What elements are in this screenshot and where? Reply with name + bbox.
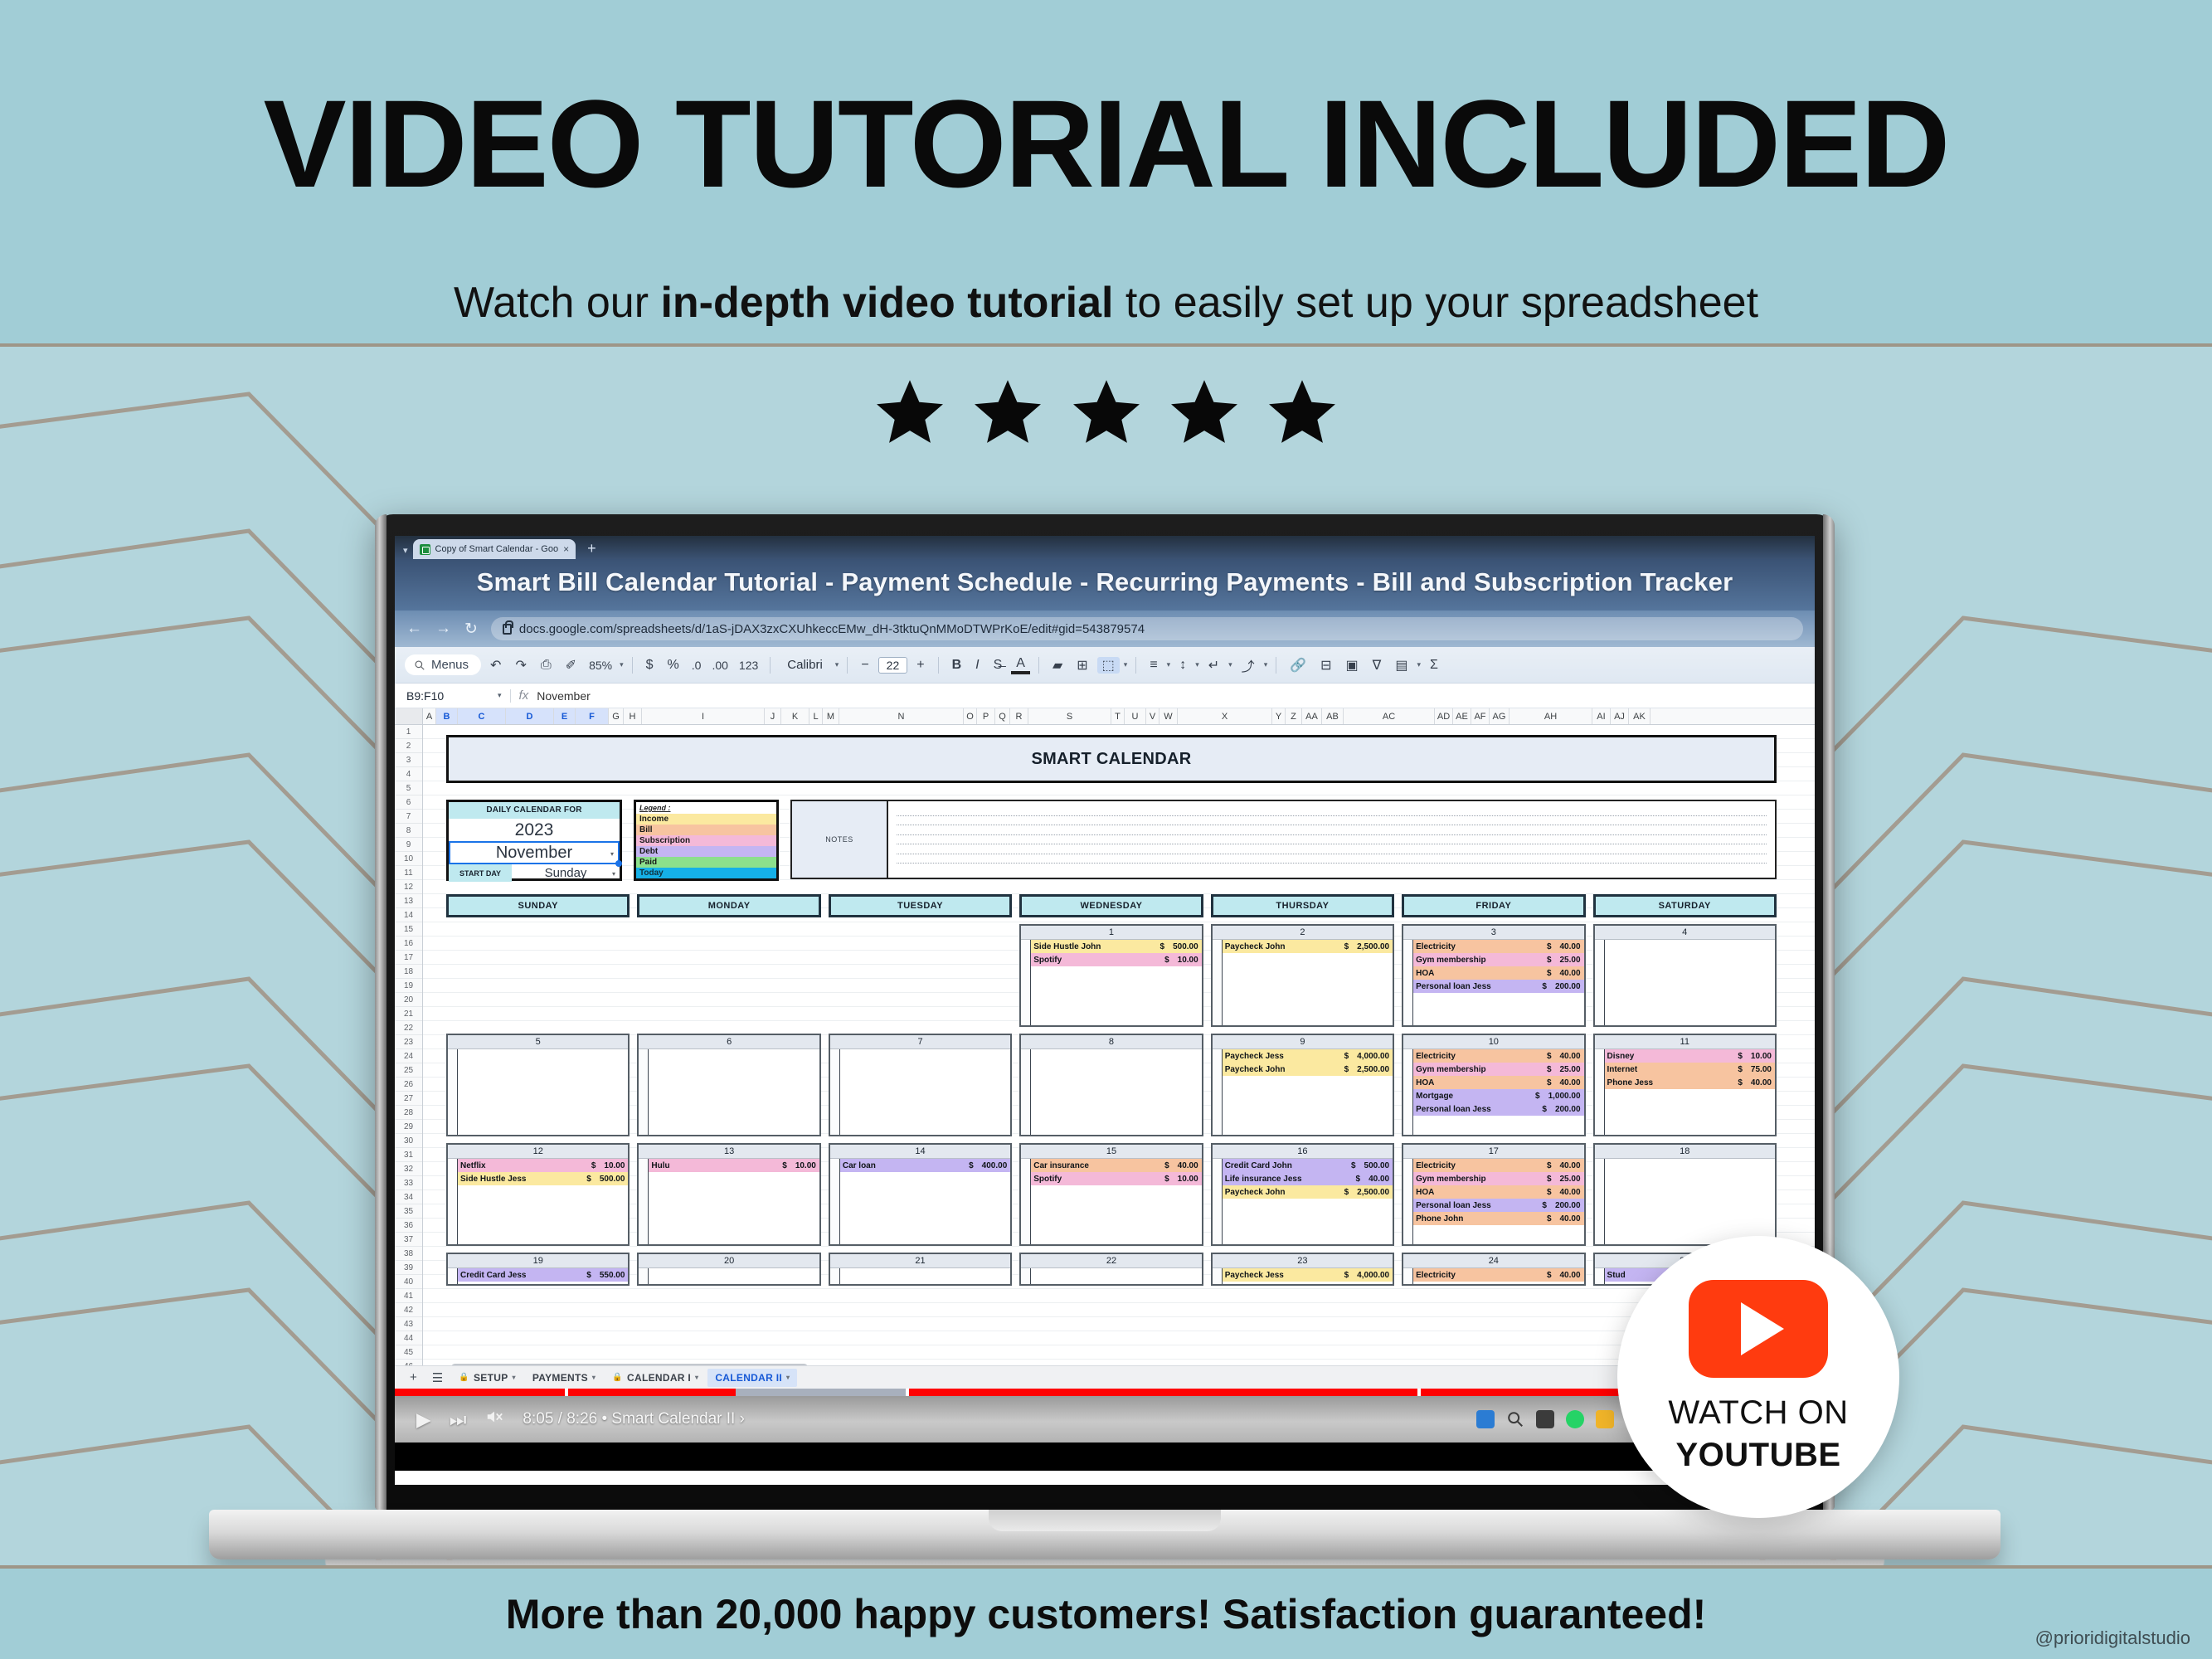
chevron-down-icon[interactable]: ▾	[592, 1374, 596, 1381]
day-number: 1	[1021, 926, 1201, 940]
increase-font-size-button[interactable]: +	[912, 658, 929, 673]
row-header-14[interactable]: 14	[395, 908, 422, 922]
day-gutter	[830, 1159, 840, 1244]
column-header-m[interactable]: M	[823, 708, 839, 724]
legend-item-today: Today	[636, 868, 776, 878]
star-icon	[1069, 377, 1144, 454]
zoom-caret-icon[interactable]: ▾	[620, 660, 624, 669]
row-header-3[interactable]: 3	[395, 753, 422, 767]
row-header-33[interactable]: 33	[395, 1176, 422, 1190]
undo-icon[interactable]: ↶	[485, 657, 506, 674]
row-header-38[interactable]: 38	[395, 1247, 422, 1261]
row-header-18[interactable]: 18	[395, 965, 422, 979]
calendar-day-cell[interactable]: 21	[829, 1253, 1012, 1286]
reload-icon[interactable]: ↻	[464, 620, 478, 639]
entry-value: 40.00	[1178, 1160, 1198, 1172]
calendar-entry[interactable]: Side Hustle Jess$500.00	[458, 1172, 628, 1185]
more-formats-icon[interactable]: 123	[736, 659, 761, 672]
all-sheets-icon[interactable]: ☰	[425, 1370, 450, 1385]
column-header-c[interactable]: C	[458, 708, 506, 724]
row-header-6[interactable]: 6	[395, 795, 422, 810]
halign-caret-icon[interactable]: ▾	[1167, 660, 1171, 669]
calendar-entry[interactable]: Gym membership$25.00	[1413, 1172, 1583, 1185]
day-body: Electricity$40.00	[1403, 1268, 1583, 1284]
calendar-entry[interactable]: Mortgage$1,000.00	[1413, 1089, 1583, 1102]
column-header-g[interactable]: G	[609, 708, 624, 724]
calendar-entry[interactable]: HOA$40.00	[1413, 1185, 1583, 1199]
calendar-entry[interactable]: Disney$10.00	[1605, 1049, 1775, 1063]
top-banner: VIDEO TUTORIAL INCLUDED Watch our in-dep…	[0, 0, 2212, 347]
row-header-24[interactable]: 24	[395, 1049, 422, 1063]
entry-currency: $	[1164, 954, 1169, 966]
entry-value: 40.00	[1560, 1269, 1581, 1282]
row-header-25[interactable]: 25	[395, 1063, 422, 1078]
forward-icon[interactable]: →	[435, 620, 451, 638]
column-header-y[interactable]: Y	[1272, 708, 1286, 724]
calendar-entry[interactable]: Gym membership$25.00	[1413, 953, 1583, 966]
whatsapp-icon[interactable]	[1566, 1410, 1584, 1428]
entry-currency: $	[1547, 954, 1552, 966]
currency-format-icon[interactable]: $	[641, 658, 659, 673]
entry-currency: $	[1160, 941, 1165, 953]
entry-name: Car loan	[843, 1160, 876, 1172]
day-gutter	[1403, 1159, 1413, 1244]
filter-caret-icon[interactable]: ▾	[1417, 660, 1422, 669]
day-number: 7	[830, 1035, 1010, 1049]
play-icon[interactable]: ▶	[416, 1408, 431, 1431]
column-header-aj[interactable]: AJ	[1611, 708, 1629, 724]
calendar-day-cell[interactable]: 20	[637, 1253, 820, 1286]
entry-value: 200.00	[1555, 1103, 1581, 1116]
calendar-day-cell[interactable]: 19Credit Card Jess$550.00	[446, 1253, 630, 1286]
redo-icon[interactable]: ↷	[510, 657, 531, 674]
row-header-31[interactable]: 31	[395, 1148, 422, 1162]
entry-name: Paycheck Jess	[1225, 1269, 1284, 1282]
chapter-divider	[565, 1389, 568, 1396]
day-number: 11	[1595, 1035, 1775, 1049]
italic-button[interactable]: I	[970, 658, 984, 673]
year-value[interactable]: 2023	[449, 819, 620, 841]
calendar-day-cell[interactable]: 13Hulu$10.00	[637, 1143, 820, 1246]
column-header-ae[interactable]: AE	[1453, 708, 1471, 724]
weekday-header-row: SUNDAYMONDAYTUESDAYWEDNESDAYTHURSDAYFRID…	[446, 894, 1777, 917]
calendar-entry[interactable]: Side Hustle John$500.00	[1031, 940, 1201, 953]
day-number: 23	[1213, 1254, 1393, 1268]
row-header-46[interactable]: 46	[395, 1360, 422, 1365]
menus-button[interactable]: Menus	[405, 654, 481, 675]
bottom-banner: More than 20,000 happy customers! Satisf…	[0, 1565, 2212, 1659]
star-icon	[970, 377, 1045, 454]
row-header-19[interactable]: 19	[395, 979, 422, 993]
taskview-icon[interactable]	[1536, 1410, 1554, 1428]
column-header-t[interactable]: T	[1111, 708, 1125, 724]
formula-input[interactable]: November	[537, 689, 591, 703]
row-header-30[interactable]: 30	[395, 1134, 422, 1148]
calendar-controls: DAILY CALENDAR FOR 2023 November ▾ START…	[446, 800, 622, 881]
text-wrap-icon[interactable]: ↵	[1203, 657, 1224, 674]
wrap-caret-icon[interactable]: ▾	[1228, 660, 1232, 669]
column-header-k[interactable]: K	[781, 708, 809, 724]
horizontal-scrollbar[interactable]	[451, 1364, 808, 1365]
month-dropdown[interactable]: November ▾	[449, 841, 620, 864]
note-line	[897, 825, 1767, 825]
spreadsheet-grid[interactable]: ABCDEFGHIJKLMNOPQRSTUVWXYZAAABACADAEAFAG…	[395, 708, 1815, 1365]
sheet-tab-calendar-i[interactable]: 🔒CALENDAR I▾	[605, 1369, 706, 1387]
chevron-down-icon[interactable]: ▾	[513, 1374, 516, 1381]
calendar-entry[interactable]: Personal loan Jess$200.00	[1413, 1102, 1583, 1116]
calendar-entry[interactable]: Credit Card Jess$550.00	[458, 1268, 628, 1282]
tab-list-caret-icon[interactable]: ▾	[403, 545, 408, 559]
calendar-entry[interactable]: Paycheck John$2,500.00	[1223, 1185, 1393, 1199]
calendar-day-cell[interactable]: 12Netflix$10.00Side Hustle Jess$500.00	[446, 1143, 630, 1246]
text-rotation-icon[interactable]: ⤴	[1237, 655, 1260, 675]
column-header-b[interactable]: B	[436, 708, 458, 724]
entry-value: 500.00	[1364, 1160, 1390, 1172]
calendar-entry[interactable]: Phone Jess$40.00	[1605, 1076, 1775, 1089]
entry-value: 500.00	[1173, 941, 1198, 953]
row-header-7[interactable]: 7	[395, 810, 422, 824]
column-header-j[interactable]: J	[765, 708, 781, 724]
day-number: 18	[1595, 1145, 1775, 1159]
functions-icon[interactable]: Σ	[1425, 658, 1443, 673]
row-header-36[interactable]: 36	[395, 1219, 422, 1233]
sheet-tab-label: PAYMENTS	[532, 1372, 588, 1384]
insert-comment-icon[interactable]: ⊟	[1315, 657, 1336, 674]
name-box-caret-icon[interactable]: ▾	[498, 691, 502, 700]
sheet-tab-setup[interactable]: 🔒SETUP▾	[451, 1369, 523, 1387]
next-video-icon[interactable]: ⏭	[450, 1408, 467, 1431]
merge-cells-icon[interactable]: ⬚	[1097, 657, 1120, 674]
entry-value: 40.00	[1560, 1077, 1581, 1089]
calendar-day-cell[interactable]: 4	[1593, 924, 1777, 1027]
row-header-13[interactable]: 13	[395, 894, 422, 908]
filter-views-icon[interactable]: ▤	[1390, 657, 1412, 674]
row-header-37[interactable]: 37	[395, 1233, 422, 1247]
entry-value: 75.00	[1751, 1063, 1772, 1076]
back-icon[interactable]: ←	[406, 620, 422, 638]
column-header-i[interactable]: I	[642, 708, 765, 724]
calendar-entry[interactable]: Spotify$10.00	[1031, 1172, 1201, 1185]
sheet-tab-bar: + ☰ 🔒SETUP▾PAYMENTS▾🔒CALENDAR I▾CALENDAR…	[395, 1365, 1815, 1389]
increase-decimal-icon[interactable]: .00	[708, 659, 731, 672]
calendar-entry[interactable]: Internet$75.00	[1605, 1063, 1775, 1076]
legend-items: IncomeBillSubscriptionDebtPaidToday	[636, 814, 776, 878]
row-header-42[interactable]: 42	[395, 1303, 422, 1317]
row-header-26[interactable]: 26	[395, 1078, 422, 1092]
chevron-down-icon[interactable]: ▾	[786, 1374, 790, 1381]
row-header-4[interactable]: 4	[395, 767, 422, 781]
decrease-decimal-icon[interactable]: .0	[688, 659, 705, 672]
row-header-11[interactable]: 11	[395, 866, 422, 880]
row-header-45[interactable]: 45	[395, 1345, 422, 1360]
calendar-day-cell[interactable]: 1Side Hustle John$500.00Spotify$10.00	[1019, 924, 1203, 1027]
entry-value: 40.00	[1369, 1173, 1389, 1185]
calendar-day-cell[interactable]: 23Paycheck Jess$4,000.00	[1211, 1253, 1394, 1286]
merge-caret-icon[interactable]: ▾	[1124, 660, 1128, 669]
day-gutter	[830, 1268, 840, 1284]
column-header-l[interactable]: L	[809, 708, 823, 724]
entry-amount: $40.00	[1547, 1160, 1581, 1172]
calendar-day-cell[interactable]: 16Credit Card John$500.00Life insurance …	[1211, 1143, 1394, 1246]
column-header-z[interactable]: Z	[1286, 708, 1302, 724]
day-gutter	[1021, 1049, 1031, 1135]
row-header-44[interactable]: 44	[395, 1331, 422, 1345]
entry-name: Stud	[1607, 1269, 1626, 1282]
strikethrough-button[interactable]: S̶	[989, 658, 1008, 673]
day-number: 16	[1213, 1145, 1393, 1159]
text-color-button[interactable]: A	[1011, 656, 1030, 674]
column-header-s[interactable]: S	[1028, 708, 1111, 724]
new-tab-button[interactable]: +	[581, 540, 603, 559]
entry-amount: $40.00	[1547, 1269, 1581, 1282]
bold-button[interactable]: B	[947, 658, 967, 673]
entry-value: 10.00	[604, 1160, 625, 1172]
video-letterbox	[395, 1443, 1815, 1471]
row-header-35[interactable]: 35	[395, 1204, 422, 1219]
windows-start-icon[interactable]	[1476, 1410, 1495, 1428]
row-header-40[interactable]: 40	[395, 1275, 422, 1289]
entry-value: 2,500.00	[1357, 1186, 1389, 1199]
row-header-39[interactable]: 39	[395, 1261, 422, 1275]
entry-amount: $40.00	[1547, 1186, 1581, 1199]
row-header-20[interactable]: 20	[395, 993, 422, 1007]
row-header-10[interactable]: 10	[395, 852, 422, 866]
column-header-ac[interactable]: AC	[1344, 708, 1435, 724]
calendar-entry[interactable]: Spotify$10.00	[1031, 953, 1201, 966]
calendar-day-cell[interactable]: 17Electricity$40.00Gym membership$25.00H…	[1402, 1143, 1585, 1246]
rotate-caret-icon[interactable]: ▾	[1264, 660, 1268, 669]
column-header-q[interactable]: Q	[995, 708, 1010, 724]
address-bar[interactable]: docs.google.com/spreadsheets/d/1aS-jDAX3…	[491, 617, 1803, 640]
column-header-ai[interactable]: AI	[1592, 708, 1611, 724]
calendar-day-cell[interactable]: 14Car loan$400.00	[829, 1143, 1012, 1246]
subtitle-pre: Watch our	[454, 279, 661, 327]
decrease-font-size-button[interactable]: −	[856, 658, 873, 673]
day-number: 20	[639, 1254, 819, 1268]
column-header-p[interactable]: P	[977, 708, 995, 724]
notes-area[interactable]	[888, 800, 1777, 879]
row-header-23[interactable]: 23	[395, 1035, 422, 1049]
calendar-entry[interactable]: Electricity$40.00	[1413, 1268, 1583, 1282]
calendar-day-cell[interactable]: 6	[637, 1034, 820, 1136]
taskbar-search-icon[interactable]	[1506, 1410, 1524, 1428]
calendar-day-cell[interactable]: 5	[446, 1034, 630, 1136]
calendar-entry[interactable]: Personal loan Jess$200.00	[1413, 980, 1583, 993]
entry-name: Electricity	[1416, 1160, 1456, 1172]
column-header-ak[interactable]: AK	[1629, 708, 1650, 724]
calendar-day-cell[interactable]: 11Disney$10.00Internet$75.00Phone Jess$4…	[1593, 1034, 1777, 1136]
formula-bar: B9:F10 ▾ fx November	[395, 684, 1815, 708]
entry-name: Spotify	[1033, 954, 1062, 966]
column-header-a[interactable]: A	[423, 708, 436, 724]
calendar-entry[interactable]: Phone John$40.00	[1413, 1212, 1583, 1225]
calendar-day-cell[interactable]: 2Paycheck John$2,500.00	[1211, 924, 1394, 1027]
row-header-1[interactable]: 1	[395, 725, 422, 739]
browser-tab[interactable]: Copy of Smart Calendar - Goo ×	[413, 539, 576, 559]
entry-amount: $200.00	[1542, 1199, 1580, 1212]
calendar-entry[interactable]: Electricity$40.00	[1413, 1049, 1583, 1063]
font-family-selector[interactable]: Calibri	[779, 658, 831, 672]
select-all-corner[interactable]	[395, 708, 423, 724]
column-header-ag[interactable]: AG	[1490, 708, 1510, 724]
start-day-dropdown[interactable]: Sunday ▾	[512, 864, 620, 882]
day-gutter	[1213, 1049, 1223, 1135]
insert-link-icon[interactable]: 🔗	[1285, 657, 1311, 674]
row-header-28[interactable]: 28	[395, 1106, 422, 1120]
mute-icon[interactable]	[484, 1408, 504, 1431]
vertical-align-icon[interactable]: ↕	[1174, 658, 1191, 673]
entry-value: 40.00	[1560, 1186, 1581, 1199]
calendar-entry[interactable]: Paycheck Jess$4,000.00	[1223, 1049, 1393, 1063]
column-header-n[interactable]: N	[839, 708, 964, 724]
watch-on-youtube-badge[interactable]: WATCH ON YOUTUBE	[1617, 1236, 1899, 1518]
calendar-entry[interactable]: Car loan$400.00	[840, 1159, 1010, 1172]
day-body: Paycheck John$2,500.00	[1213, 940, 1393, 1025]
row-header-16[interactable]: 16	[395, 937, 422, 951]
column-header-ah[interactable]: AH	[1510, 708, 1592, 724]
video-timestamp: 8:05 / 8:26	[523, 1410, 597, 1428]
day-body: Paycheck Jess$4,000.00Paycheck John$2,50…	[1213, 1049, 1393, 1135]
column-header-af[interactable]: AF	[1471, 708, 1490, 724]
sheet-tab-calendar-ii[interactable]: CALENDAR II▾	[707, 1369, 797, 1387]
day-body: Paycheck Jess$4,000.00	[1213, 1268, 1393, 1284]
column-header-f[interactable]: F	[576, 708, 609, 724]
chevron-down-icon[interactable]: ▾	[695, 1374, 698, 1381]
chapter-chevron-icon[interactable]: ›	[740, 1410, 745, 1428]
calendar-entry[interactable]: Life insurance Jess$40.00	[1223, 1172, 1393, 1185]
row-header-17[interactable]: 17	[395, 951, 422, 965]
calendar-entry[interactable]: HOA$40.00	[1413, 966, 1583, 980]
entry-currency: $	[1547, 1063, 1552, 1076]
row-header-27[interactable]: 27	[395, 1092, 422, 1106]
calendar-day-cell[interactable]: 9Paycheck Jess$4,000.00Paycheck John$2,5…	[1211, 1034, 1394, 1136]
paint-format-icon[interactable]: ✐	[561, 657, 581, 674]
name-box[interactable]: B9:F10	[406, 689, 489, 703]
calendar-day-cell[interactable]: 18	[1593, 1143, 1777, 1246]
day-body: Credit Card John$500.00Life insurance Je…	[1213, 1159, 1393, 1244]
column-header-ab[interactable]: AB	[1322, 708, 1344, 724]
sheet-tab-label: SETUP	[474, 1372, 508, 1384]
row-header-15[interactable]: 15	[395, 922, 422, 937]
entry-amount: $25.00	[1547, 954, 1581, 966]
column-header-e[interactable]: E	[554, 708, 576, 724]
calendar-entry[interactable]: Paycheck Jess$4,000.00	[1223, 1268, 1393, 1282]
insert-chart-icon[interactable]: ▣	[1341, 657, 1364, 674]
close-tab-icon[interactable]: ×	[563, 543, 569, 555]
entry-currency: $	[591, 1160, 596, 1172]
column-header-u[interactable]: U	[1125, 708, 1146, 724]
row-header-9[interactable]: 9	[395, 838, 422, 852]
chevron-down-icon: ▾	[612, 870, 615, 878]
calendar-entry[interactable]: Gym membership$25.00	[1413, 1063, 1583, 1076]
video-buffered	[736, 1389, 906, 1396]
font-caret-icon[interactable]: ▾	[835, 660, 839, 669]
column-header-v[interactable]: V	[1146, 708, 1159, 724]
sheet-canvas[interactable]: SMART CALENDAR DAILY CALENDAR FOR 2023 N…	[423, 725, 1815, 1365]
calendar-entry[interactable]: Hulu$10.00	[649, 1159, 819, 1172]
entry-value: 40.00	[1751, 1077, 1772, 1089]
row-header-29[interactable]: 29	[395, 1120, 422, 1134]
calendar-day-cell[interactable]: 15Car insurance$40.00Spotify$10.00	[1019, 1143, 1203, 1246]
column-header-aa[interactable]: AA	[1302, 708, 1322, 724]
day-items: Car loan$400.00	[840, 1159, 1010, 1244]
day-gutter	[1021, 1159, 1031, 1244]
video-separator: •	[601, 1410, 607, 1428]
column-header-d[interactable]: D	[506, 708, 554, 724]
day-body	[1595, 1159, 1775, 1244]
row-header-5[interactable]: 5	[395, 781, 422, 795]
calendar-day-cell[interactable]: 10Electricity$40.00Gym membership$25.00H…	[1402, 1034, 1585, 1136]
fill-color-icon[interactable]: ▰	[1048, 657, 1067, 674]
row-header-34[interactable]: 34	[395, 1190, 422, 1204]
entry-amount: $40.00	[1547, 1050, 1581, 1063]
column-header-r[interactable]: R	[1010, 708, 1028, 724]
row-header-41[interactable]: 41	[395, 1289, 422, 1303]
valign-caret-icon[interactable]: ▾	[1195, 660, 1199, 669]
column-header-x[interactable]: X	[1178, 708, 1272, 724]
calendar-entry[interactable]: Car insurance$40.00	[1031, 1159, 1201, 1172]
calendar-entry[interactable]: Paycheck John$2,500.00	[1223, 940, 1393, 953]
calendar-day-cell[interactable]: 8	[1019, 1034, 1203, 1136]
calendar-day-cell[interactable]: 7	[829, 1034, 1012, 1136]
calendar-day-cell[interactable]: 3Electricity$40.00Gym membership$25.00HO…	[1402, 924, 1585, 1027]
calendar-entry[interactable]: HOA$40.00	[1413, 1076, 1583, 1089]
entry-amount: $200.00	[1542, 980, 1580, 993]
horizontal-align-icon[interactable]: ≡	[1145, 658, 1162, 673]
row-header-12[interactable]: 12	[395, 880, 422, 894]
entry-name: HOA	[1416, 1186, 1434, 1199]
calendar-entry[interactable]: Netflix$10.00	[458, 1159, 628, 1172]
borders-icon[interactable]: ⊞	[1072, 657, 1092, 674]
row-header-22[interactable]: 22	[395, 1021, 422, 1035]
calendar-entry[interactable]: Credit Card John$500.00	[1223, 1159, 1393, 1172]
column-header-o[interactable]: O	[964, 708, 977, 724]
legend-item-debt: Debt	[636, 846, 776, 857]
row-header-21[interactable]: 21	[395, 1007, 422, 1021]
row-header-8[interactable]: 8	[395, 824, 422, 838]
row-header-2[interactable]: 2	[395, 739, 422, 753]
entry-amount: $40.00	[1164, 1160, 1198, 1172]
add-sheet-button[interactable]: +	[403, 1370, 424, 1384]
create-filter-icon[interactable]: ∇	[1368, 657, 1387, 674]
file-explorer-icon[interactable]	[1596, 1410, 1614, 1428]
sheet-tab-label: CALENDAR I	[627, 1372, 691, 1384]
font-size-input[interactable]: 22	[878, 657, 908, 674]
column-header-h[interactable]: H	[624, 708, 642, 724]
calendar-entry[interactable]: Electricity$40.00	[1413, 940, 1583, 953]
calendar-day-cell[interactable]: 24Electricity$40.00	[1402, 1253, 1585, 1286]
window-title-bar: Smart Bill Calendar Tutorial - Payment S…	[395, 559, 1815, 611]
calendar-entry[interactable]: Personal loan Jess$200.00	[1413, 1199, 1583, 1212]
sheet-tab-payments[interactable]: PAYMENTS▾	[525, 1369, 603, 1387]
column-header-ad[interactable]: AD	[1435, 708, 1453, 724]
entry-name: Mortgage	[1416, 1090, 1453, 1102]
print-icon[interactable]: ⎙	[536, 658, 557, 673]
calendar-entry[interactable]: Electricity$40.00	[1413, 1159, 1583, 1172]
entry-currency: $	[1547, 1269, 1552, 1282]
entry-amount: $25.00	[1547, 1063, 1581, 1076]
zoom-level[interactable]: 85%	[586, 659, 615, 672]
video-progress-bar[interactable]	[395, 1389, 1815, 1396]
percent-format-icon[interactable]: %	[663, 658, 684, 673]
entry-value: 2,500.00	[1357, 1063, 1389, 1076]
column-header-w[interactable]: W	[1159, 708, 1178, 724]
row-header-43[interactable]: 43	[395, 1317, 422, 1331]
day-number: 22	[1021, 1254, 1201, 1268]
row-header-32[interactable]: 32	[395, 1162, 422, 1176]
calendar-day-cell[interactable]: 22	[1019, 1253, 1203, 1286]
calendar-entry[interactable]: Paycheck John$2,500.00	[1223, 1063, 1393, 1076]
